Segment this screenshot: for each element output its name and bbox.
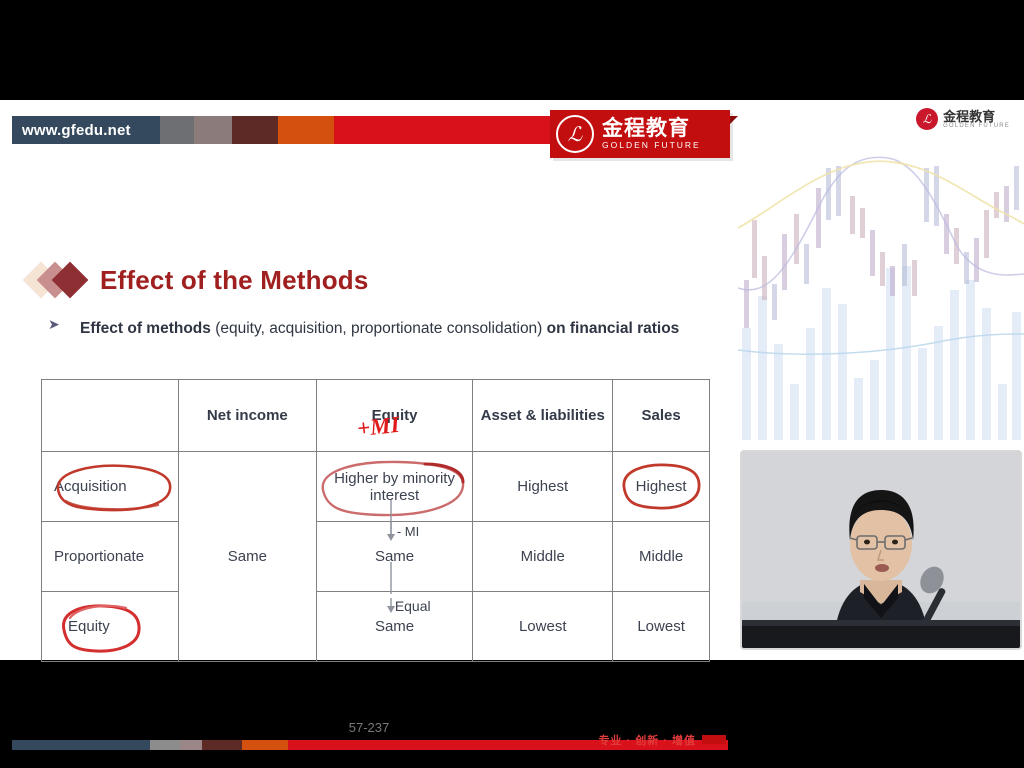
cell-equity-acquisition: Higher by minority interest xyxy=(316,452,472,522)
row-label-equity: Equity xyxy=(42,592,179,662)
cell-equity-proportionate: Same - MI xyxy=(316,522,472,592)
cell-sales-lowest: Lowest xyxy=(613,592,710,662)
ink-arrow-head-2 xyxy=(381,598,401,620)
cell-equity-acquisition-text: Higher by minority interest xyxy=(334,470,455,504)
cell-equity-equity-text: Same xyxy=(375,618,414,635)
screen-letterbox: www.gfedu.net ℒ 金程教育 GOLDEN FUTURE xyxy=(0,0,1024,768)
table-head: Net income Equity +MI Asset & liabilitie… xyxy=(42,380,710,452)
col-header-assets-label: Asset & liabilities xyxy=(481,407,605,424)
row-label-proportionate: Proportionate xyxy=(42,522,179,592)
bullet-tail: on financial ratios xyxy=(547,320,680,337)
table-header-row: Net income Equity +MI Asset & liabilitie… xyxy=(42,380,710,452)
annotation-equal: Equal xyxy=(395,598,431,614)
brand-name-cn: 金程教育 xyxy=(602,118,701,140)
presentation-slide: www.gfedu.net ℒ 金程教育 GOLDEN FUTURE xyxy=(0,100,738,660)
cell-sales-highest: Highest xyxy=(613,452,710,522)
instructor-video-feed[interactable] xyxy=(740,450,1022,650)
chart-candlesticks xyxy=(744,166,1019,328)
page-title: Effect of the Methods xyxy=(100,265,369,296)
col-header-assets-liabilities: Asset & liabilities xyxy=(473,380,613,452)
chart-volume-bars xyxy=(742,266,1021,440)
color-swatch-gray xyxy=(160,116,194,144)
table-row: Equity Same Equal xyxy=(42,592,710,662)
annotation-minus-mi: - MI xyxy=(397,524,419,539)
brand-ribbon: ℒ 金程教育 GOLDEN FUTURE xyxy=(550,110,730,158)
corner-brand-cn: 金程教育 xyxy=(943,110,1010,123)
webcam-image xyxy=(742,452,1020,648)
footer-swatch-gray xyxy=(150,740,180,750)
row-label-equity-text: Equity xyxy=(68,618,110,635)
cell-sales-highest-text: Highest xyxy=(636,478,687,495)
corner-seal-icon: ℒ xyxy=(916,108,938,130)
table-row: Acquisition Same Higher by minority inte… xyxy=(42,452,710,522)
color-swatch-orange xyxy=(278,116,334,144)
cell-assets-middle: Middle xyxy=(473,522,613,592)
bullet-lead: Effect of methods xyxy=(80,320,211,337)
decorative-stock-chart xyxy=(738,148,1024,448)
cell-assets-lowest: Lowest xyxy=(473,592,613,662)
website-url-label: www.gfedu.net xyxy=(12,116,160,144)
bullet-arrow-icon: ➤ xyxy=(48,316,60,333)
bullet-point: ➤ Effect of methods (equity, acquisition… xyxy=(48,313,688,345)
chart-ma-curve xyxy=(738,161,1024,228)
cell-assets-highest: Highest xyxy=(473,452,613,522)
footer-tagline: 专业 · 创新 · 增值 xyxy=(598,732,696,748)
col-header-blank xyxy=(42,380,179,452)
right-panel: ℒ 金程教育 GOLDEN FUTURE xyxy=(738,100,1024,660)
ink-arrow-head-1 xyxy=(381,522,401,544)
color-swatch-brown xyxy=(232,116,278,144)
cell-equity-equity: Same Equal xyxy=(316,592,472,662)
row-label-acquisition-text: Acquisition xyxy=(54,478,127,495)
video-frame: www.gfedu.net ℒ 金程教育 GOLDEN FUTURE xyxy=(0,100,1024,660)
cell-sales-middle: Middle xyxy=(613,522,710,592)
col-header-sales: Sales xyxy=(613,380,710,452)
footer-swatch-brown xyxy=(202,740,242,750)
col-header-equity-label: Equity xyxy=(372,407,418,424)
cell-equity-proportionate-text: Same xyxy=(375,548,414,565)
title-diamond-decoration xyxy=(28,260,96,300)
footer-swatch-mauve xyxy=(180,740,202,750)
col-header-equity: Equity +MI xyxy=(316,380,472,452)
corner-brand-logo: ℒ 金程教育 GOLDEN FUTURE xyxy=(916,108,1010,130)
bullet-mid: (equity, acquisition, proportionate cons… xyxy=(211,320,547,337)
slide-title-row: Effect of the Methods xyxy=(28,260,369,300)
footer-red-block xyxy=(702,735,726,744)
table-row: Proportionate Same - MI xyxy=(42,522,710,592)
cell-net-income-same: Same xyxy=(178,452,316,662)
footer-swatch-navy xyxy=(12,740,150,750)
color-swatch-mauve xyxy=(194,116,232,144)
col-header-net-income: Net income xyxy=(178,380,316,452)
row-label-acquisition: Acquisition xyxy=(42,452,179,522)
comparison-table: Net income Equity +MI Asset & liabilitie… xyxy=(41,379,710,662)
bullet-text: Effect of methods (equity, acquisition, … xyxy=(80,313,688,345)
brand-name-en: GOLDEN FUTURE xyxy=(602,140,701,150)
corner-brand-en: GOLDEN FUTURE xyxy=(943,123,1010,129)
table-body: Acquisition Same Higher by minority inte… xyxy=(42,452,710,662)
footer-swatch-orange xyxy=(242,740,288,750)
brand-seal-icon: ℒ xyxy=(556,115,594,153)
chart-svg xyxy=(738,148,1024,448)
